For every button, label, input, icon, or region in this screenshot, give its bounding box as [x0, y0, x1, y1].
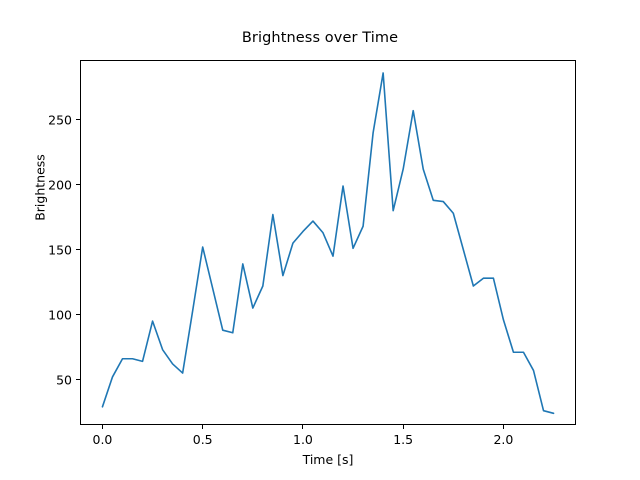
y-tick-label: 100	[20, 307, 72, 322]
y-tick-mark	[76, 379, 80, 380]
y-tick-mark	[76, 249, 80, 250]
line-series-plot	[80, 60, 576, 425]
x-tick-label: 1.0	[293, 432, 313, 447]
x-tick-label: 1.5	[393, 432, 413, 447]
x-tick-label: 0.5	[193, 432, 213, 447]
y-tick-label: 50	[20, 372, 72, 387]
x-tick-mark	[102, 425, 103, 429]
chart-title: Brightness over Time	[0, 30, 640, 46]
x-tick-mark	[503, 425, 504, 429]
brightness-line	[102, 73, 553, 413]
x-tick-label: 0.0	[93, 432, 113, 447]
y-tick-mark	[76, 184, 80, 185]
x-tick-mark	[302, 425, 303, 429]
y-axis-label: Brightness	[33, 108, 48, 268]
chart-figure: Brightness over Time 50100150200250 0.00…	[0, 0, 640, 480]
x-tick-mark	[202, 425, 203, 429]
x-tick-label: 2.0	[493, 432, 513, 447]
x-tick-mark	[403, 425, 404, 429]
y-tick-mark	[76, 119, 80, 120]
x-axis-label: Time [s]	[80, 452, 576, 467]
y-tick-mark	[76, 314, 80, 315]
